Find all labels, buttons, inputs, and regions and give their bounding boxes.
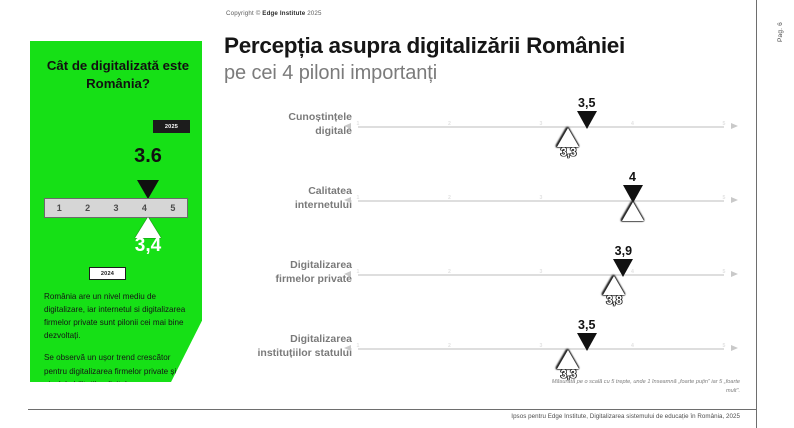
pillars-chart: Cunoștințeledigitale123453,53,3Calitatea… [224, 96, 744, 384]
summary-paragraph-2: Se observă un ușor trend crescător pentr… [44, 351, 192, 390]
source-line: Ipsos pentru Edge Institute, Digitalizar… [511, 413, 740, 420]
marker-2025-icon [623, 185, 643, 203]
summary-value-2024: 3,4 [120, 235, 176, 257]
axis-tick-label: 5 [719, 121, 729, 127]
summary-panel-body: România are un nivel mediu de digitaliza… [44, 290, 192, 391]
scale-tick: 2 [73, 199, 101, 217]
chart-row-label-line: internetului [224, 198, 352, 212]
year-badge-2024: 2024 [89, 267, 126, 280]
arrow-right-icon [731, 197, 738, 203]
axis-tick-label: 5 [719, 343, 729, 349]
source-divider [28, 409, 756, 410]
arrow-right-icon [731, 345, 738, 351]
scale-tick: 3 [102, 199, 130, 217]
value-label-2025: 3,5 [567, 96, 607, 110]
marker-2024-icon [622, 202, 644, 221]
axis-tick-label: 1 [353, 195, 363, 201]
chart-row-label: Digitalizareafirmelor private [224, 258, 352, 286]
footnote-line-1: Măsurată pe o scală cu 5 trepte, unde 1 … [552, 379, 677, 385]
marker-2024-icon [557, 350, 579, 369]
arrow-left-icon [344, 197, 351, 203]
scale-tick: 1 [45, 199, 73, 217]
chart-row-label-line: Digitalizarea [224, 258, 352, 272]
year-badge-2025: 2025 [153, 120, 190, 133]
axis-tick-label: 1 [353, 121, 363, 127]
axis-tick-label: 2 [445, 343, 455, 349]
scale-tick: 5 [159, 199, 187, 217]
axis-tick-label: 3 [536, 121, 546, 127]
marker-2024-icon [603, 276, 625, 295]
axis-tick-label: 3 [536, 195, 546, 201]
value-label-2024: 3,3 [548, 147, 588, 159]
chart-row-label: Digitalizareainstituțiilor statului [224, 332, 352, 360]
slide-canvas: Pag. 6 Copyright © Edge Institute 2025 P… [0, 0, 794, 428]
marker-2024-icon [557, 128, 579, 147]
copyright-prefix: Copyright © [226, 10, 260, 17]
arrow-left-icon [344, 123, 351, 129]
chart-axis: 12345 [342, 347, 740, 351]
copyright-line: Copyright © Edge Institute 2025 [226, 10, 322, 17]
page-title: Percepția asupra digitalizării României [224, 33, 625, 59]
summary-scale-bar: 1 2 3 4 5 [44, 198, 188, 218]
page-subtitle: pe cei 4 piloni importanți [224, 62, 437, 85]
copyright-year: 2025 [307, 10, 321, 17]
axis-tick-label: 3 [536, 343, 546, 349]
axis-tick-label: 5 [719, 269, 729, 275]
value-label-2025: 3,5 [567, 318, 607, 332]
chart-row-label-line: instituțiilor statului [224, 346, 352, 360]
chart-row-label: Cunoștințeledigitale [224, 110, 352, 138]
chart-row: Cunoștințeledigitale123453,53,3 [224, 96, 744, 166]
value-label-2024: 3,8 [594, 295, 634, 307]
value-label-2025: 3,9 [603, 244, 643, 258]
axis-tick-label: 5 [719, 195, 729, 201]
scale-tick: 4 [130, 199, 158, 217]
summary-panel: Cât de digitalizată este România? 2025 3… [30, 41, 202, 382]
axis-tick-label: 2 [445, 269, 455, 275]
chart-row-label-line: digitale [224, 124, 352, 138]
axis-tick-label: 3 [536, 269, 546, 275]
value-label-2025: 4 [613, 170, 653, 184]
axis-tick-label: 4 [628, 121, 638, 127]
footnote-line-2: „foarte puțin” iar 5 „foarte mult”. [678, 379, 740, 394]
copyright-brand: Edge Institute [262, 10, 305, 17]
axis-tick-label: 1 [353, 269, 363, 275]
page-number: Pag. 6 [777, 22, 784, 42]
arrow-left-icon [344, 271, 351, 277]
marker-2025-icon [577, 333, 597, 351]
chart-row-label-line: Digitalizarea [224, 332, 352, 346]
arrow-right-icon [731, 271, 738, 277]
marker-2025-icon [577, 111, 597, 129]
summary-panel-heading: Cât de digitalizată este România? [44, 57, 192, 93]
axis-tick-label: 2 [445, 121, 455, 127]
summary-paragraph-1: România are un nivel mediu de digitaliza… [44, 290, 192, 342]
chart-row-label-line: firmelor private [224, 272, 352, 286]
chart-axis: 12345 [342, 273, 740, 277]
chart-row: Calitateainternetului123454 [224, 170, 744, 240]
chart-axis: 12345 [342, 199, 740, 203]
page-number-rail: Pag. 6 [756, 0, 794, 428]
arrow-right-icon [731, 123, 738, 129]
chart-row-label: Calitateainternetului [224, 184, 352, 212]
chart-row-label-line: Calitatea [224, 184, 352, 198]
axis-tick-label: 1 [353, 343, 363, 349]
summary-value-2025: 3.6 [120, 145, 176, 168]
chart-footnote: Măsurată pe o scală cu 5 trepte, unde 1 … [540, 378, 740, 396]
axis-tick-label: 2 [445, 195, 455, 201]
chart-row-label-line: Cunoștințele [224, 110, 352, 124]
marker-down-icon [137, 180, 159, 199]
axis-tick-label: 4 [628, 343, 638, 349]
arrow-left-icon [344, 345, 351, 351]
marker-2025-icon [613, 259, 633, 277]
chart-axis: 12345 [342, 125, 740, 129]
chart-row: Digitalizareafirmelor private123453,93,8 [224, 244, 744, 314]
